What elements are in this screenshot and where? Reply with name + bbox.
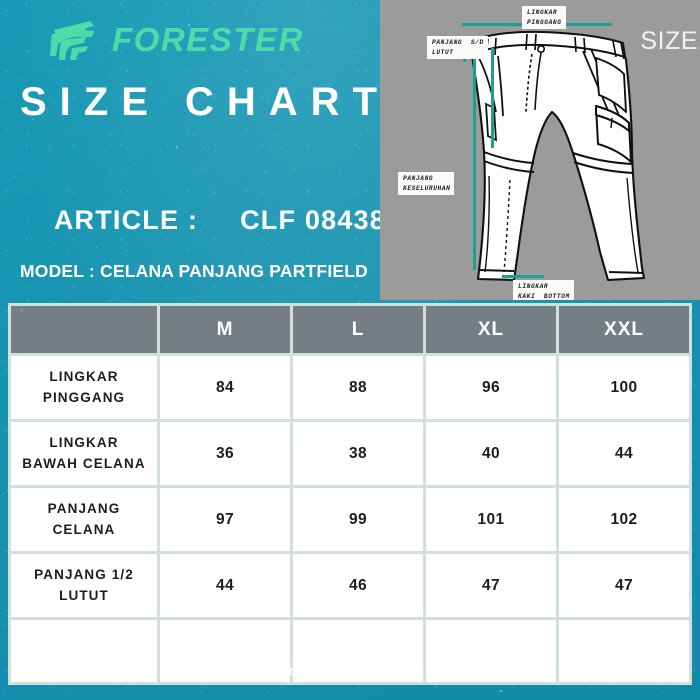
brand-name: FORESTER <box>112 21 304 59</box>
cell-m: 84 <box>160 356 290 419</box>
cell-l: 99 <box>293 488 423 551</box>
cell-m: 36 <box>160 422 290 485</box>
page-title: SIZE CHART <box>20 82 390 122</box>
col-header-xxl: XXL <box>559 306 689 353</box>
cell-xl: 96 <box>426 356 556 419</box>
cell-xl: 40 <box>426 422 556 485</box>
row-label: PANJANGCELANA <box>11 488 157 551</box>
col-header-m: M <box>160 306 290 353</box>
size-table-body: LINGKARPINGGANG 84 88 96 100 LINGKARBAWA… <box>11 356 689 682</box>
article-row: ARTICLE :CLF 08438 <box>20 180 386 261</box>
cell-l: 38 <box>293 422 423 485</box>
knee-measure-line-a <box>491 48 494 148</box>
table-row: LINGKARPINGGANG 84 88 96 100 <box>11 356 689 419</box>
illustration-panel: SIZE <box>380 0 700 300</box>
cell-xxl: 44 <box>559 422 689 485</box>
table-row: LINGKARBAWAH CELANA 36 38 40 44 <box>11 422 689 485</box>
col-header-blank <box>11 306 157 353</box>
forester-eagle-icon <box>50 18 110 62</box>
size-table-wrap: M L XL XXL LINGKARPINGGANG 84 88 96 100 … <box>8 303 692 685</box>
col-header-l: L <box>293 306 423 353</box>
size-table: M L XL XXL LINGKARPINGGANG 84 88 96 100 … <box>8 303 692 685</box>
row-label: LINGKARBAWAH CELANA <box>11 422 157 485</box>
callout-full-length: PANJANGKESELURUHAN <box>398 172 454 195</box>
leg-opening-measure-line <box>502 275 544 278</box>
cell-m: 44 <box>160 554 290 617</box>
full-length-measure-line <box>473 45 476 270</box>
cell-l: 46 <box>293 554 423 617</box>
table-header-row: M L XL XXL <box>11 306 689 353</box>
cell-xl: 101 <box>426 488 556 551</box>
callout-leg-opening: LINGKARKAKI BOTTOM <box>513 280 574 300</box>
cell-l: 88 <box>293 356 423 419</box>
size-chart-page: FORESTER SIZE CHART ARTICLE :CLF 08438 M… <box>0 0 700 700</box>
unit-note: dalam satuan cm <box>0 663 700 681</box>
callout-waist: LINGKARPINGGANG <box>522 6 566 29</box>
article-value: CLF 08438 <box>198 205 386 235</box>
table-row: PANJANG 1/2LUTUT 44 46 47 47 <box>11 554 689 617</box>
article-label: ARTICLE : <box>54 205 198 235</box>
row-label: LINGKARPINGGANG <box>11 356 157 419</box>
cell-xxl: 102 <box>559 488 689 551</box>
brand-logo: FORESTER <box>50 18 340 62</box>
callout-to-knee: PANJANG S/DLUTUT <box>427 36 488 59</box>
cell-xxl: 47 <box>559 554 689 617</box>
col-header-xl: XL <box>426 306 556 353</box>
size-table-head: M L XL XXL <box>11 306 689 353</box>
cell-m: 97 <box>160 488 290 551</box>
table-row: PANJANGCELANA 97 99 101 102 <box>11 488 689 551</box>
row-label: PANJANG 1/2LUTUT <box>11 554 157 617</box>
cell-xl: 47 <box>426 554 556 617</box>
model-line: MODEL : CELANA PANJANG PARTFIELD <box>20 263 368 281</box>
cell-xxl: 100 <box>559 356 689 419</box>
